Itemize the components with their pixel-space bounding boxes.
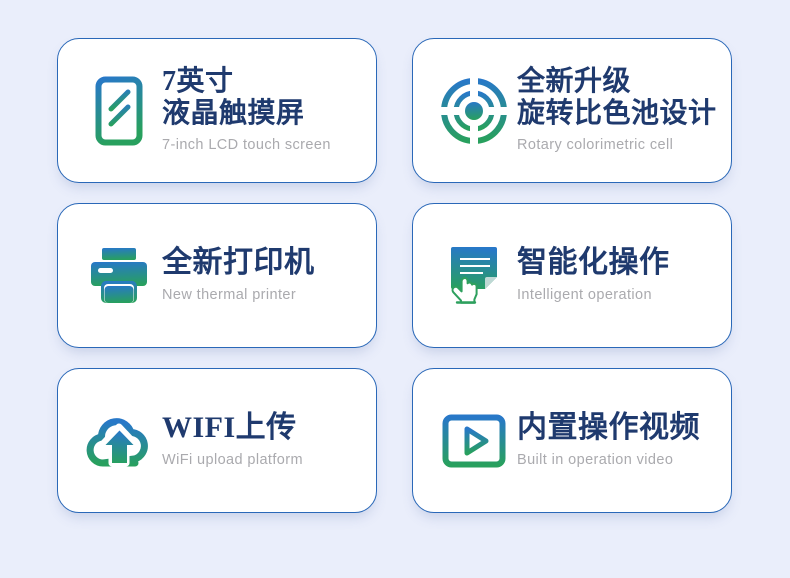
card-text-block: WIFI上传 WiFi upload platform: [162, 411, 303, 471]
card-text-block: 全新打印机 New thermal printer: [162, 246, 315, 306]
card-title: 全新升级 旋转比色池设计: [517, 66, 717, 131]
cloud-upload-icon: [82, 404, 156, 478]
card-subtitle: Built in operation video: [517, 452, 700, 468]
card-text-block: 内置操作视频 Built in operation video: [517, 411, 700, 471]
card-title: 7英寸 液晶触摸屏: [162, 66, 331, 131]
card-subtitle: WiFi upload platform: [162, 452, 303, 468]
feature-card-thermal-printer[interactable]: 全新打印机 New thermal printer: [57, 203, 377, 348]
feature-card-lcd-touch-screen[interactable]: 7英寸 液晶触摸屏 7-inch LCD touch screen: [57, 38, 377, 183]
lcd-touch-screen-icon: [82, 68, 156, 154]
rotary-target-icon: [437, 68, 511, 154]
card-subtitle: Intelligent operation: [517, 287, 670, 303]
card-title: WIFI上传: [162, 411, 303, 446]
feature-card-operation-video[interactable]: 内置操作视频 Built in operation video: [412, 368, 732, 513]
hand-touch-document-icon: [437, 239, 511, 313]
card-subtitle: New thermal printer: [162, 287, 315, 303]
feature-card-grid: 7英寸 液晶触摸屏 7-inch LCD touch screen: [57, 38, 733, 513]
video-play-icon: [437, 404, 511, 478]
card-text-block: 智能化操作 Intelligent operation: [517, 246, 670, 306]
feature-card-rotary-colorimetric-cell[interactable]: 全新升级 旋转比色池设计 Rotary colorimetric cell: [412, 38, 732, 183]
printer-icon: [82, 239, 156, 313]
feature-card-wifi-upload[interactable]: WIFI上传 WiFi upload platform: [57, 368, 377, 513]
card-title: 智能化操作: [517, 246, 670, 281]
card-text-block: 7英寸 液晶触摸屏 7-inch LCD touch screen: [162, 66, 331, 156]
card-subtitle: Rotary colorimetric cell: [517, 137, 717, 153]
card-title: 全新打印机: [162, 246, 315, 281]
feature-card-intelligent-operation[interactable]: 智能化操作 Intelligent operation: [412, 203, 732, 348]
card-title: 内置操作视频: [517, 411, 700, 446]
card-text-block: 全新升级 旋转比色池设计 Rotary colorimetric cell: [517, 66, 717, 156]
card-subtitle: 7-inch LCD touch screen: [162, 137, 331, 153]
